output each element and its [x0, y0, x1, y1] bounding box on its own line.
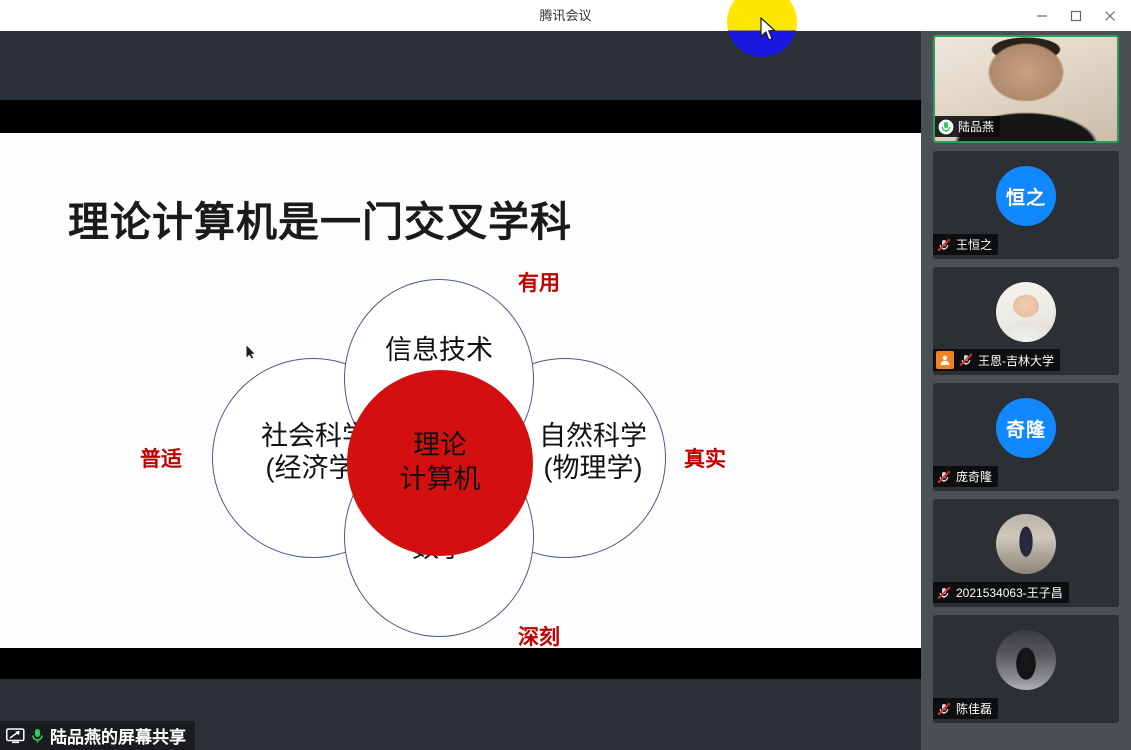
- window-title: 腾讯会议: [0, 0, 1131, 31]
- microphone-on-icon: [938, 119, 954, 135]
- host-person-icon: [939, 354, 951, 366]
- interdisciplinary-flower-diagram: 社会科学 (经济学) 自然科学 (物理学) 信息技术 数学 理论 计算机 有用 …: [130, 263, 770, 648]
- center-circle-theoretical-cs: 理论 计算机: [347, 370, 533, 556]
- participant-name-bar: 王恒之: [933, 234, 998, 255]
- participant-tile[interactable]: 恒之 王恒之: [933, 151, 1119, 259]
- slide-title: 理论计算机是一门交叉学科: [68, 188, 572, 248]
- title-bar: 腾讯会议: [0, 0, 1131, 32]
- window-controls: [1025, 0, 1127, 31]
- participant-name: 2021534063-王子昌: [956, 584, 1063, 601]
- participant-sidebar[interactable]: 陆品燕 恒之 王恒之: [921, 31, 1131, 750]
- mouse-pointer-cursor-icon: [760, 17, 776, 41]
- annotation-true: 真实: [684, 443, 726, 473]
- avatar: [996, 282, 1056, 342]
- avatar-image: [996, 282, 1056, 342]
- tencent-meeting-window: 腾讯会议 理论计算机是一门交叉学科: [0, 0, 1131, 750]
- participant-name: 王恩-吉林大学: [978, 352, 1054, 369]
- participant-tile[interactable]: 奇隆 庞奇隆: [933, 383, 1119, 491]
- avatar: 恒之: [996, 166, 1056, 226]
- letterbox-top: [0, 100, 921, 133]
- participant-tile[interactable]: 陆品燕: [933, 35, 1119, 143]
- screen-share-banner: 陆品燕的屏幕共享: [0, 721, 195, 750]
- avatar-image: [996, 514, 1056, 574]
- close-button[interactable]: [1093, 0, 1127, 31]
- participant-name-bar: 陆品燕: [935, 116, 1000, 137]
- participant-name: 王恒之: [956, 236, 992, 253]
- microphone-on-icon: [30, 728, 45, 744]
- participant-tile[interactable]: 王恩-吉林大学: [933, 267, 1119, 375]
- participant-name: 陆品燕: [958, 118, 994, 135]
- maximize-button[interactable]: [1059, 0, 1093, 31]
- center-label-line2: 计算机: [400, 463, 481, 497]
- screen-share-icon: [6, 728, 25, 744]
- slide-pointer-cursor-icon: [246, 345, 255, 359]
- participant-name: 庞奇隆: [956, 468, 992, 485]
- avatar: 奇隆: [996, 398, 1056, 458]
- participant-tile[interactable]: 陈佳磊: [933, 615, 1119, 723]
- participant-name-bar: 王恩-吉林大学: [933, 349, 1060, 371]
- petal-label-top: 信息技术: [344, 335, 534, 367]
- host-badge: [936, 351, 954, 369]
- participant-name: 陈佳磊: [956, 700, 992, 717]
- annotation-universal: 普适: [140, 443, 182, 473]
- participant-name-bar: 陈佳磊: [933, 698, 998, 719]
- microphone-muted-icon: [958, 352, 974, 368]
- avatar-image: [996, 630, 1056, 690]
- microphone-muted-icon: [936, 237, 952, 253]
- annotation-useful: 有用: [518, 267, 560, 297]
- shared-screen-region[interactable]: 理论计算机是一门交叉学科 社会科学 (经济学) 自然科学 (物理学) 信息技术: [0, 31, 921, 750]
- presentation-slide: 理论计算机是一门交叉学科 社会科学 (经济学) 自然科学 (物理学) 信息技术: [0, 133, 921, 648]
- microphone-muted-icon: [936, 469, 952, 485]
- center-label-line1: 理论: [413, 429, 467, 463]
- minimize-button[interactable]: [1025, 0, 1059, 31]
- annotation-deep: 深刻: [518, 621, 560, 648]
- meeting-content-area: 理论计算机是一门交叉学科 社会科学 (经济学) 自然科学 (物理学) 信息技术: [0, 31, 1131, 750]
- microphone-muted-icon: [936, 585, 952, 601]
- screen-share-banner-label: 陆品燕的屏幕共享: [50, 723, 186, 748]
- letterbox-bottom: [0, 648, 921, 679]
- avatar: [996, 630, 1056, 690]
- avatar: [996, 514, 1056, 574]
- microphone-muted-icon: [936, 701, 952, 717]
- participant-name-bar: 庞奇隆: [933, 466, 998, 487]
- participant-tile[interactable]: 2021534063-王子昌: [933, 499, 1119, 607]
- participant-name-bar: 2021534063-王子昌: [933, 582, 1069, 603]
